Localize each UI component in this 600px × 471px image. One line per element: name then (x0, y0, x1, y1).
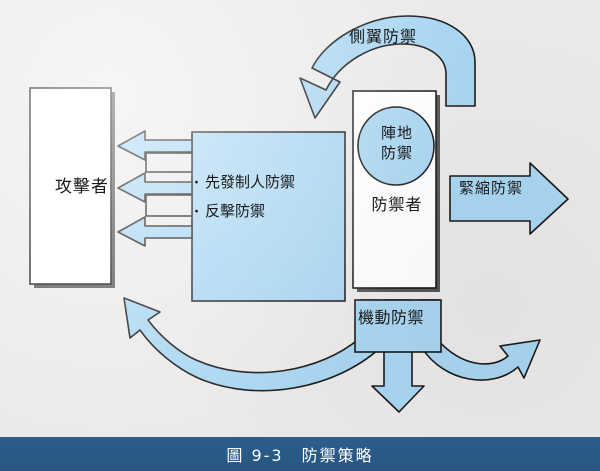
defender-box-shape (353, 91, 440, 292)
contraction-defense-label: 緊縮防禦 (459, 180, 523, 197)
figure-caption: 圖 9-3 防禦策略 (0, 437, 600, 471)
caption-banner: 圖 9-3 防禦策略 (0, 437, 600, 471)
contraction-defense-arrow-shape (450, 163, 568, 234)
diagram-vector-layer (0, 0, 600, 471)
figure-canvas: 攻擊者 防禦者 陣地 防禦 ・先發制人防禦 ・反擊防禦 側翼防禦 緊縮防禦 機動… (0, 0, 600, 471)
position-defense-line-1: 陣地 (362, 123, 432, 143)
bullet-dot-icon: ・ (190, 176, 203, 191)
list-item-label: 反擊防禦 (205, 202, 265, 220)
position-defense-line-2: 防禦 (362, 143, 432, 163)
bullet-dot-icon: ・ (190, 205, 203, 220)
list-item-label: 先發制人防禦 (205, 173, 295, 191)
flank-defense-label: 側翼防禦 (349, 28, 417, 46)
defense-strategy-list: ・先發制人防禦 ・反擊防禦 (190, 168, 330, 225)
mobile-defense-arrow-shape (124, 298, 540, 412)
position-defense-label: 陣地 防禦 (362, 123, 432, 164)
attacker-label: 攻擊者 (44, 178, 120, 198)
list-item: ・先發制人防禦 (190, 168, 330, 197)
list-item: ・反擊防禦 (190, 197, 330, 226)
defender-label: 防禦者 (355, 196, 439, 214)
mobile-defense-label: 機動防禦 (358, 309, 424, 327)
